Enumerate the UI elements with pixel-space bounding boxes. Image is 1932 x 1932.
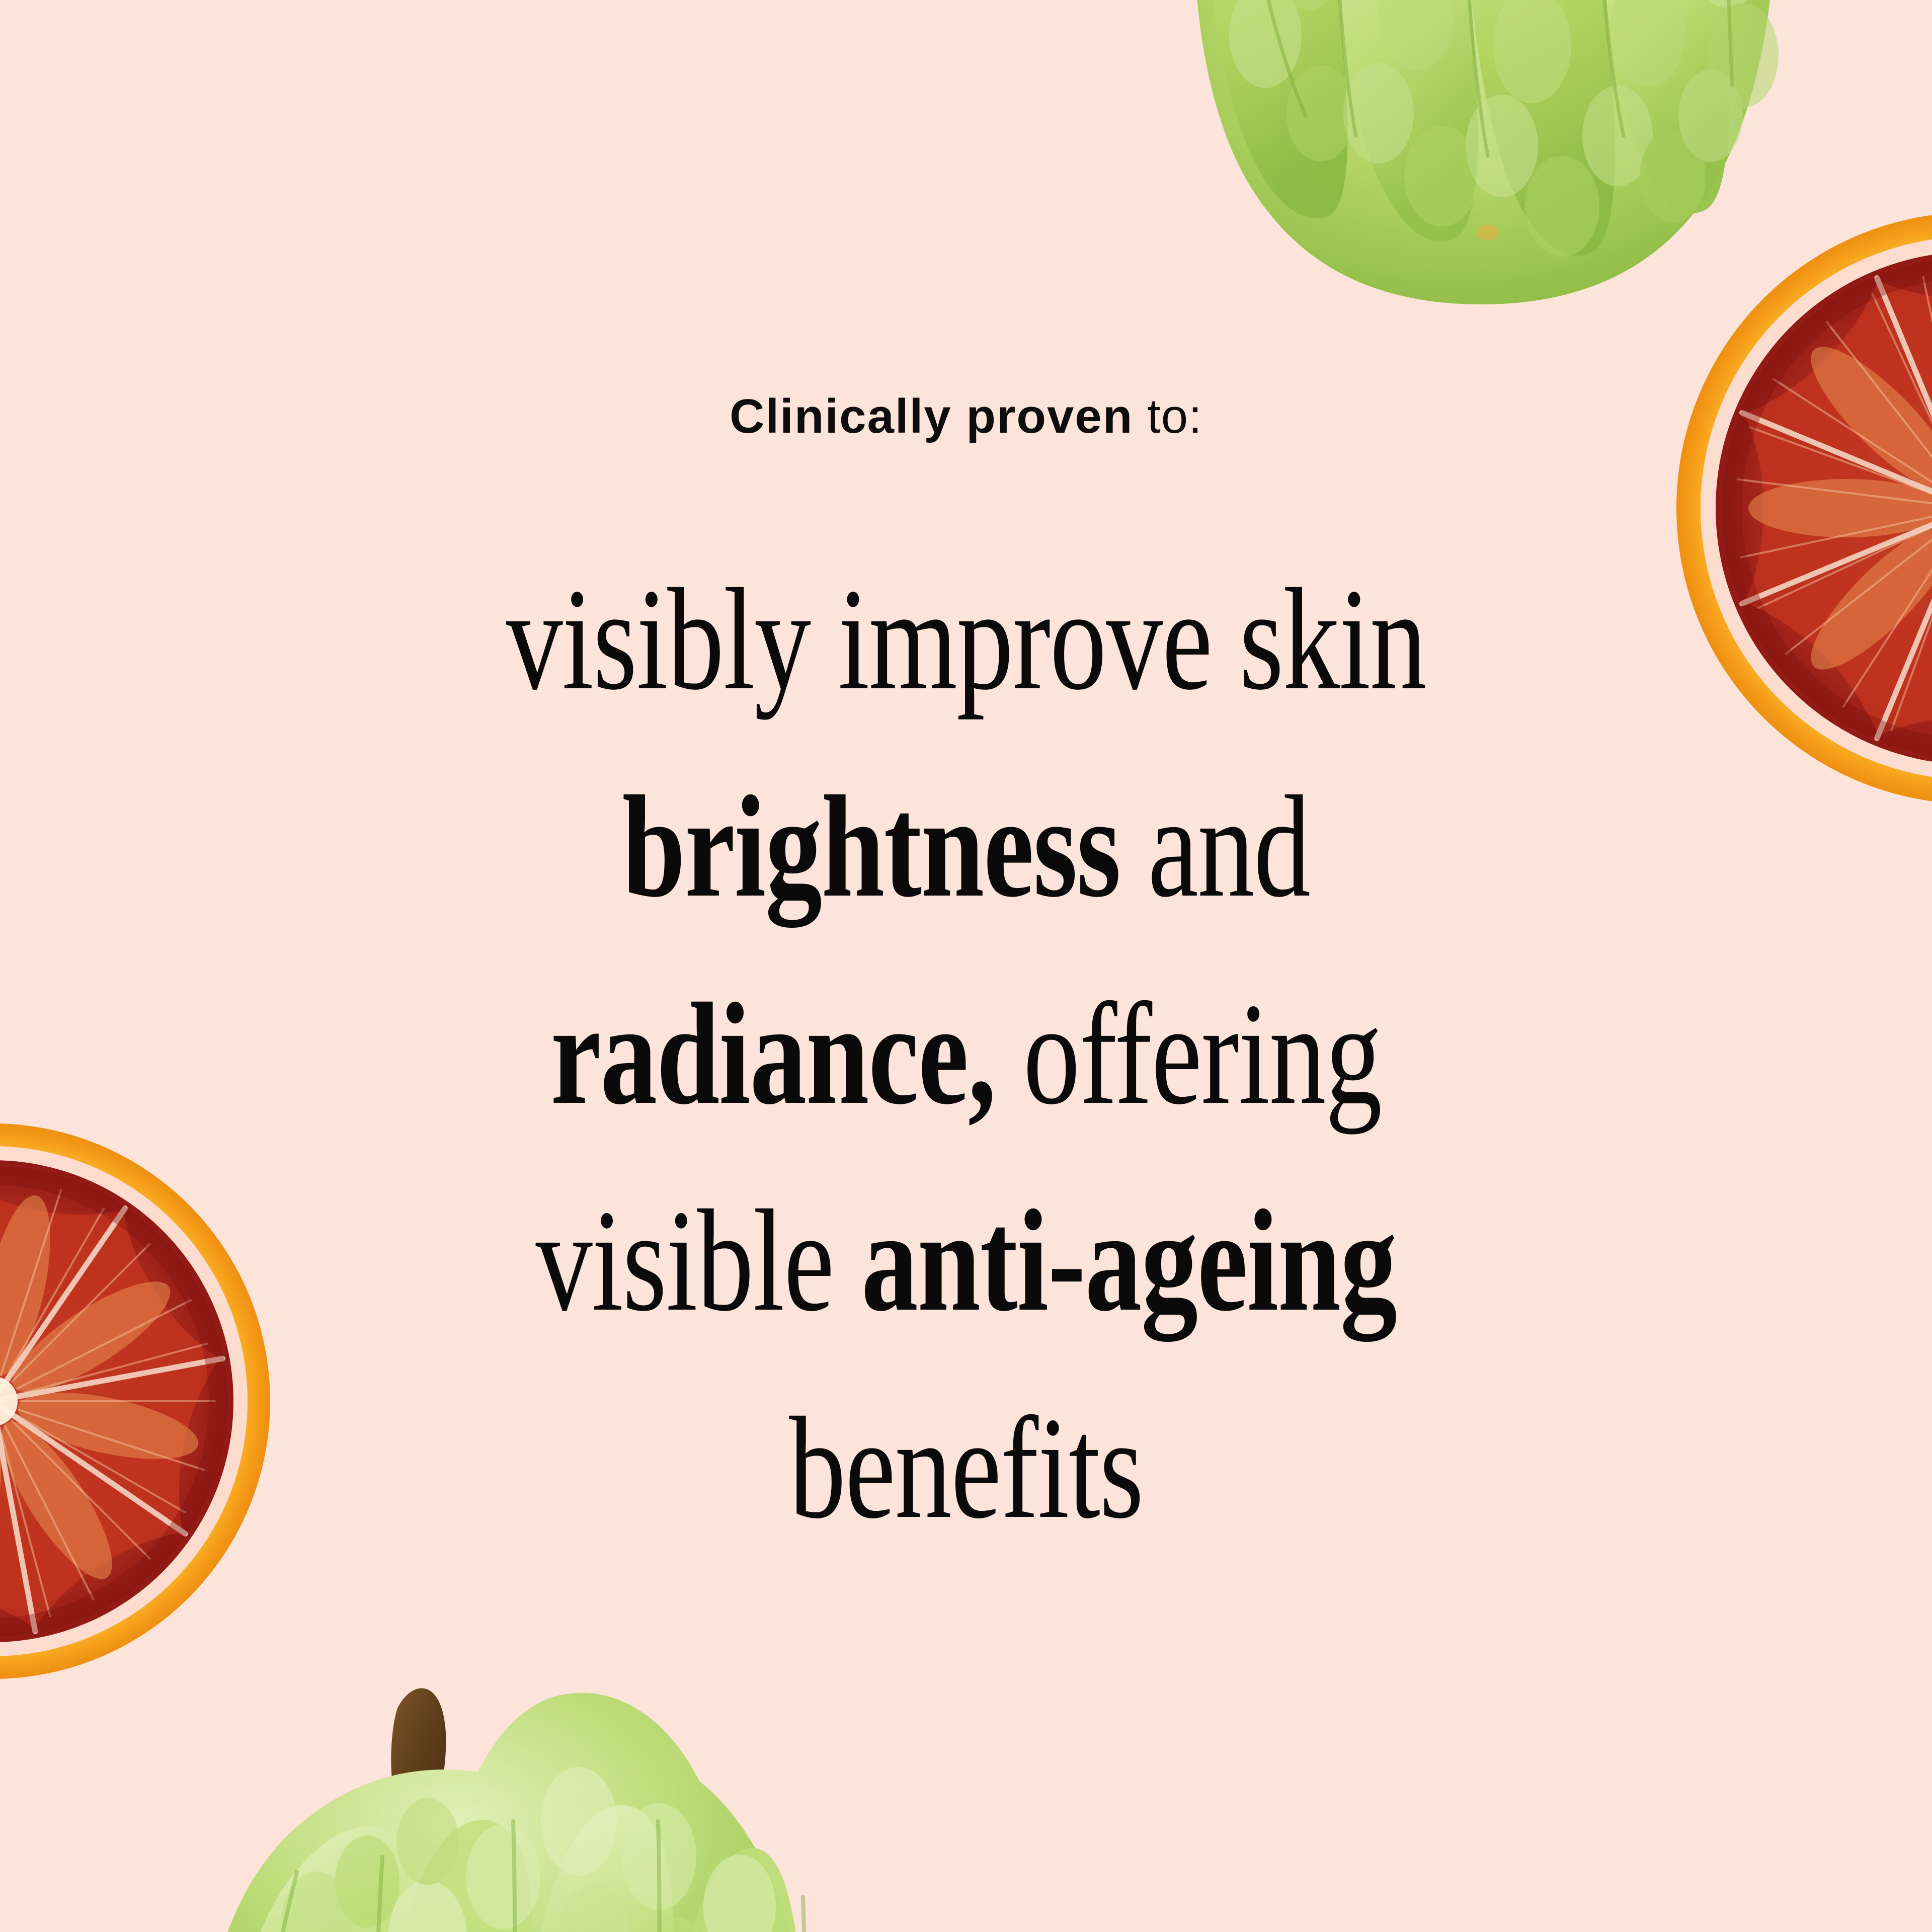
headline-line-1: visibly improve skin [432,536,1500,743]
blood-orange-slice-right-image [1675,211,1932,805]
eyebrow-line: Clinically proven to: [0,392,1932,441]
headline-segment-and: and [1120,766,1310,927]
headline-segment-anti-ageing: anti-ageing [861,1180,1397,1341]
eyebrow-strong-text: Clinically proven [730,389,1133,443]
citron-fruit-bottom-left-image [216,1655,815,1932]
headline-line-2: brightness and [432,743,1500,950]
headline-segment-visibly-improve-skin: visibly improve skin [506,558,1426,720]
headline-segment-benefits: benefits [789,1387,1143,1549]
headline-segment-offering: offering [996,973,1382,1135]
headline-line-4: visible anti-ageing [432,1157,1500,1364]
headline-line-3: radiance, offering [432,950,1500,1158]
eyebrow-light-text: to: [1133,389,1202,443]
headline-segment-radiance: radiance, [550,973,995,1135]
headline-line-5: benefits [432,1364,1500,1572]
headline-segment-brightness: brightness [622,766,1120,927]
blood-orange-slice-left-image [0,1122,307,1680]
headline-block: visibly improve skin brightness and radi… [282,536,1650,1572]
headline-segment-visible: visible [536,1180,861,1341]
poster-canvas: Clinically proven to: visibly improve sk… [0,0,1932,1932]
